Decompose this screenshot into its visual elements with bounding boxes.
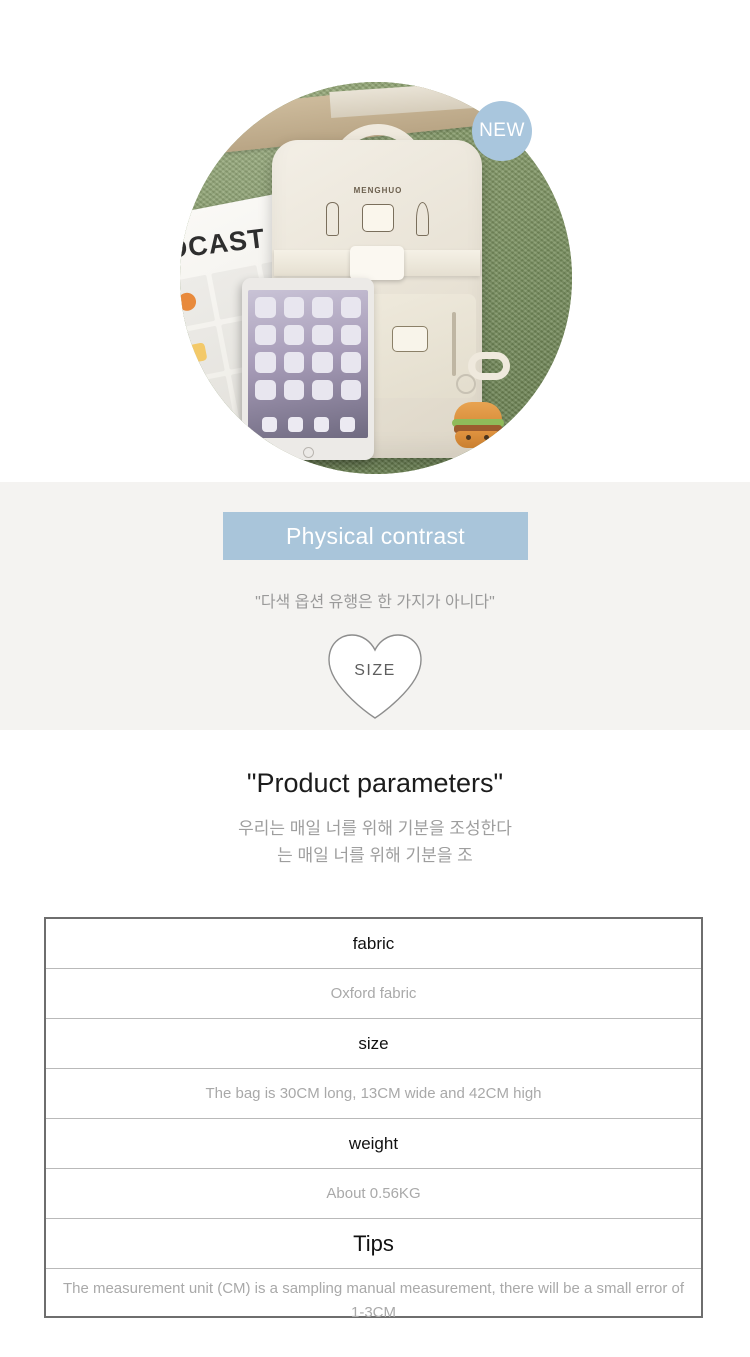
spec-value: The bag is 30CM long, 13CM wide and 42CM… xyxy=(46,1085,701,1102)
physical-contrast-section: Physical contrast "다색 옵션 유행은 한 가지가 아니다" … xyxy=(0,482,750,730)
size-heart: SIZE xyxy=(323,630,427,722)
size-label: SIZE xyxy=(323,662,427,680)
table-row: size xyxy=(46,1019,701,1069)
table-row: weight xyxy=(46,1119,701,1169)
backpack-patch-icons xyxy=(322,198,434,238)
tablet-dock xyxy=(256,415,360,433)
parameters-title: "Product parameters" xyxy=(0,768,750,799)
spec-value: Oxford fabric xyxy=(46,985,701,1002)
table-row: fabric xyxy=(46,919,701,969)
spec-table: fabricOxford fabricsizeThe bag is 30CM l… xyxy=(44,917,703,1318)
table-row: Tips xyxy=(46,1219,701,1269)
parameters-subtitle: 우리는 매일 너를 위해 기분을 조성한다 는 매일 너를 위해 기분을 조 xyxy=(0,815,750,869)
product-detail-page: ODCAST xyxy=(0,0,750,1357)
tablet-home-button xyxy=(303,447,314,458)
spec-label: fabric xyxy=(46,934,701,954)
backpack-logo: MENGHUO xyxy=(338,186,418,195)
fork-icon xyxy=(326,202,339,236)
cheese-icon xyxy=(362,204,394,232)
backpack-patch-small xyxy=(392,326,428,352)
keyring-icon xyxy=(456,374,476,394)
burger-charm xyxy=(452,402,504,448)
backpack-zipper xyxy=(452,312,456,376)
tablet-prop xyxy=(242,278,374,460)
korean-quote: "다색 옵션 유행은 한 가지가 아니다" xyxy=(0,588,750,612)
table-row: The measurement unit (CM) is a sampling … xyxy=(46,1269,701,1332)
magazine-title: ODCAST xyxy=(180,223,267,268)
backpack-side-handle xyxy=(468,352,510,380)
hero-section: ODCAST xyxy=(0,0,750,482)
backpack-buckle xyxy=(350,246,404,280)
spoon-icon xyxy=(416,202,429,236)
tablet-app-grid xyxy=(255,297,361,400)
spec-value: The measurement unit (CM) is a sampling … xyxy=(46,1277,701,1325)
parameters-subtitle-line1: 우리는 매일 너를 위해 기분을 조성한다 xyxy=(0,815,750,842)
table-row: The bag is 30CM long, 13CM wide and 42CM… xyxy=(46,1069,701,1119)
parameters-subtitle-line2: 는 매일 너를 위해 기분을 조 xyxy=(0,842,750,869)
spec-label: size xyxy=(46,1034,701,1054)
table-row: Oxford fabric xyxy=(46,969,701,1019)
new-badge: NEW xyxy=(472,101,532,161)
product-parameters-section: "Product parameters" 우리는 매일 너를 위해 기분을 조성… xyxy=(0,730,750,869)
spec-label: weight xyxy=(46,1134,701,1154)
spec-value: About 0.56KG xyxy=(46,1185,701,1202)
spec-label: Tips xyxy=(46,1231,701,1257)
table-row: About 0.56KG xyxy=(46,1169,701,1219)
physical-contrast-banner: Physical contrast xyxy=(223,512,528,560)
tablet-screen xyxy=(248,290,368,438)
